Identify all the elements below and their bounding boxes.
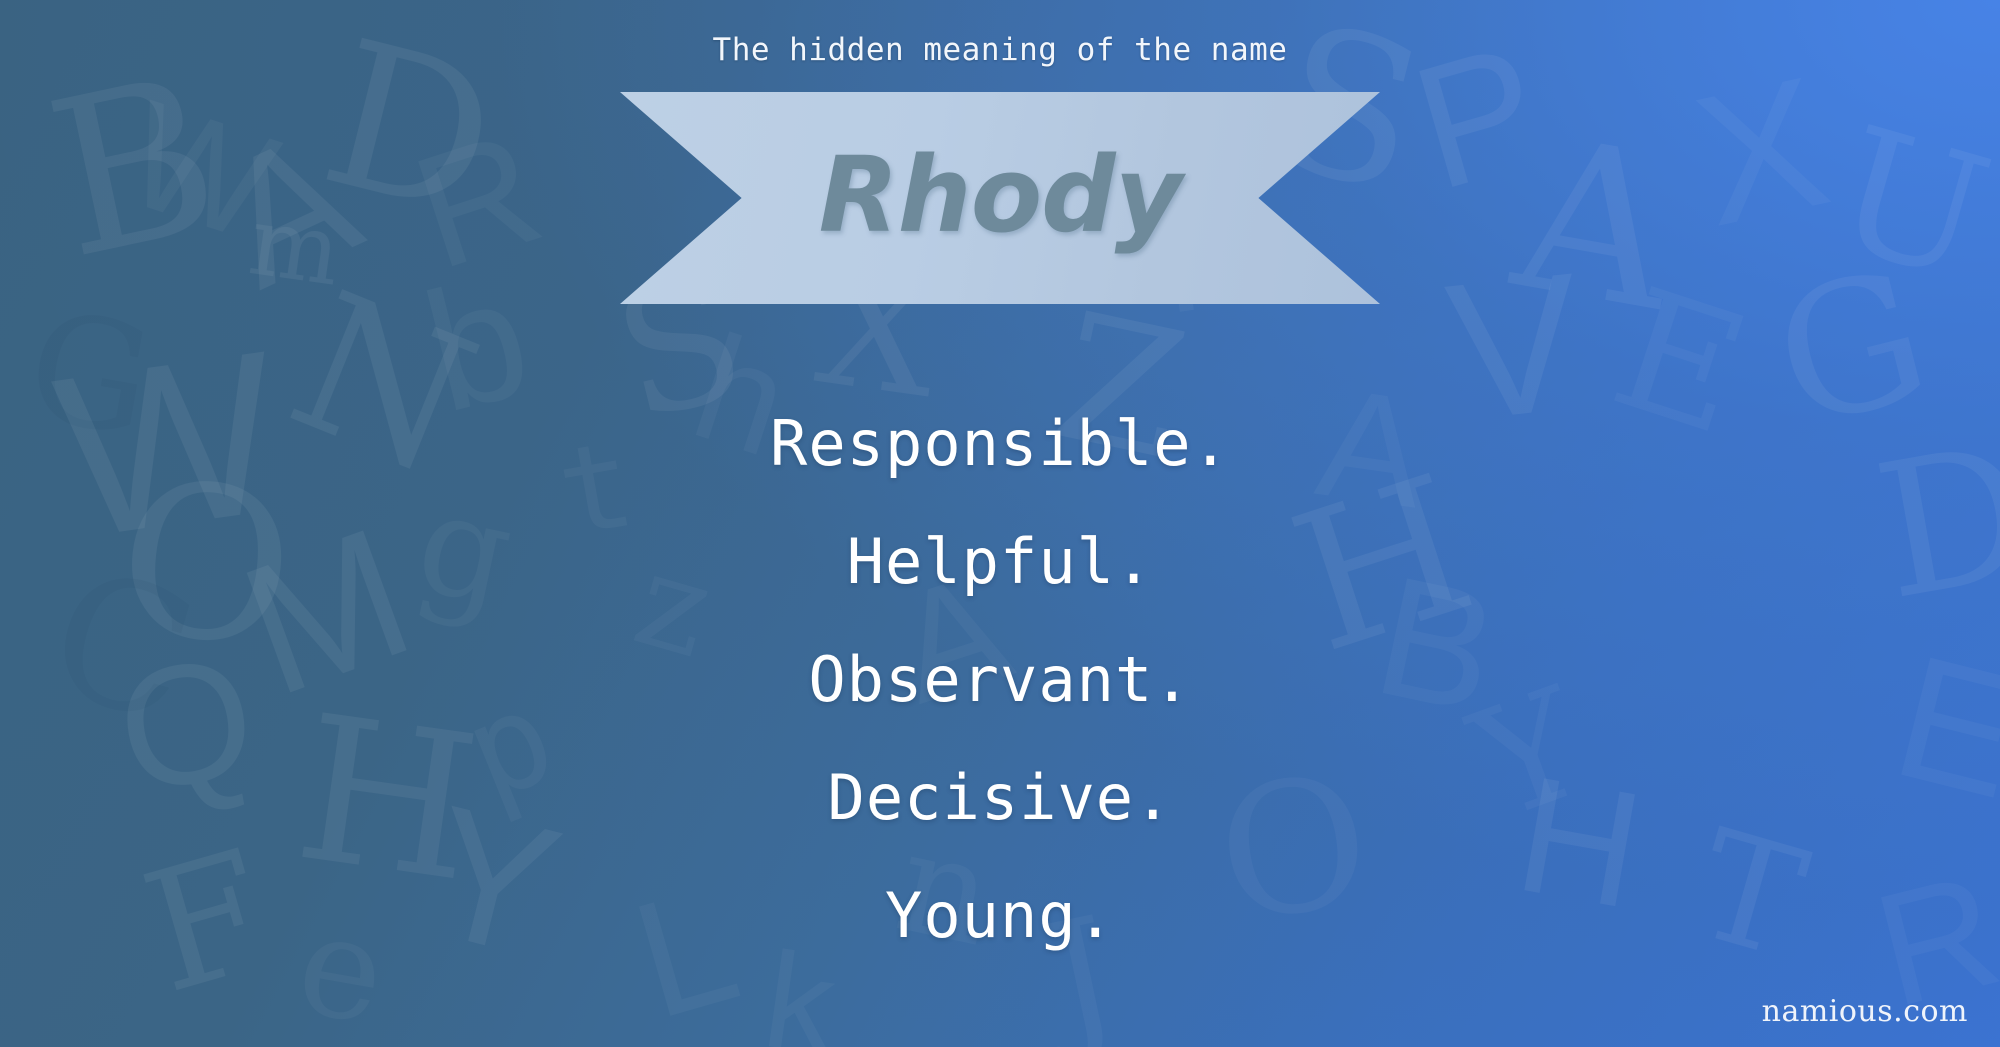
name-meaning-card: BWmADRGWNbOMgCQHpYFeShXtzAZKSPAXUVEGAHBD… — [0, 0, 2000, 1047]
page-title: The hidden meaning of the name — [0, 32, 2000, 68]
trait-line: Helpful. — [0, 503, 2000, 621]
texture-letter: R — [398, 106, 557, 294]
trait-line: Decisive. — [0, 739, 2000, 857]
name-banner: Rhody — [620, 92, 1380, 304]
trait-line: Responsible. — [0, 385, 2000, 503]
texture-letter: B — [34, 46, 233, 289]
texture-letter: W — [110, 77, 291, 263]
name-text: Rhody — [620, 92, 1380, 304]
site-watermark: namious.com — [1762, 994, 1968, 1029]
texture-letter: A — [196, 103, 381, 317]
texture-letter: U — [1819, 104, 2000, 307]
texture-letter: m — [244, 194, 346, 301]
trait-line: Observant. — [0, 621, 2000, 739]
texture-letter: X — [1682, 49, 1841, 256]
trait-line: Young. — [0, 857, 2000, 975]
traits-list: Responsible.Helpful.Observant.Decisive.Y… — [0, 385, 2000, 975]
texture-letter: A — [1503, 108, 1689, 341]
